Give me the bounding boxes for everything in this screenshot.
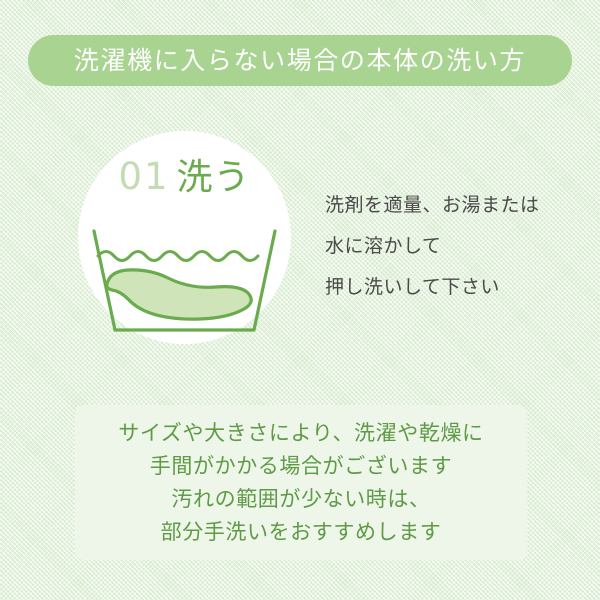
instruction-line: 水に溶かして bbox=[325, 226, 540, 267]
instruction-line: 押し洗いして下さい bbox=[325, 267, 540, 308]
infographic-page: 洗濯機に入らない場合の本体の洗い方 01洗う 洗剤を適量、お湯または 水に溶かし… bbox=[0, 0, 600, 600]
step-heading: 01洗う bbox=[78, 158, 291, 196]
note-box: サイズや大きさにより、洗濯や乾燥に 手間がかかる場合がございます 汚れの範囲が少… bbox=[75, 405, 527, 560]
step-circle: 01洗う bbox=[78, 131, 291, 344]
header-banner: 洗濯機に入らない場合の本体の洗い方 bbox=[28, 35, 572, 86]
page-title: 洗濯機に入らない場合の本体の洗い方 bbox=[74, 48, 526, 73]
step-number: 01 bbox=[118, 155, 169, 198]
note-line: 手間がかかる場合がございます bbox=[150, 450, 452, 483]
note-line: 部分手洗いをおすすめします bbox=[161, 516, 442, 549]
note-line: サイズや大きさにより、洗濯や乾燥に bbox=[118, 417, 483, 450]
instruction-line: 洗剤を適量、お湯または bbox=[325, 185, 540, 226]
instruction-block: 洗剤を適量、お湯または 水に溶かして 押し洗いして下さい bbox=[325, 185, 540, 308]
wash-basin-icon bbox=[92, 229, 277, 334]
step-label: 洗う bbox=[177, 157, 251, 198]
note-line: 汚れの範囲が少ない時は、 bbox=[171, 483, 430, 516]
